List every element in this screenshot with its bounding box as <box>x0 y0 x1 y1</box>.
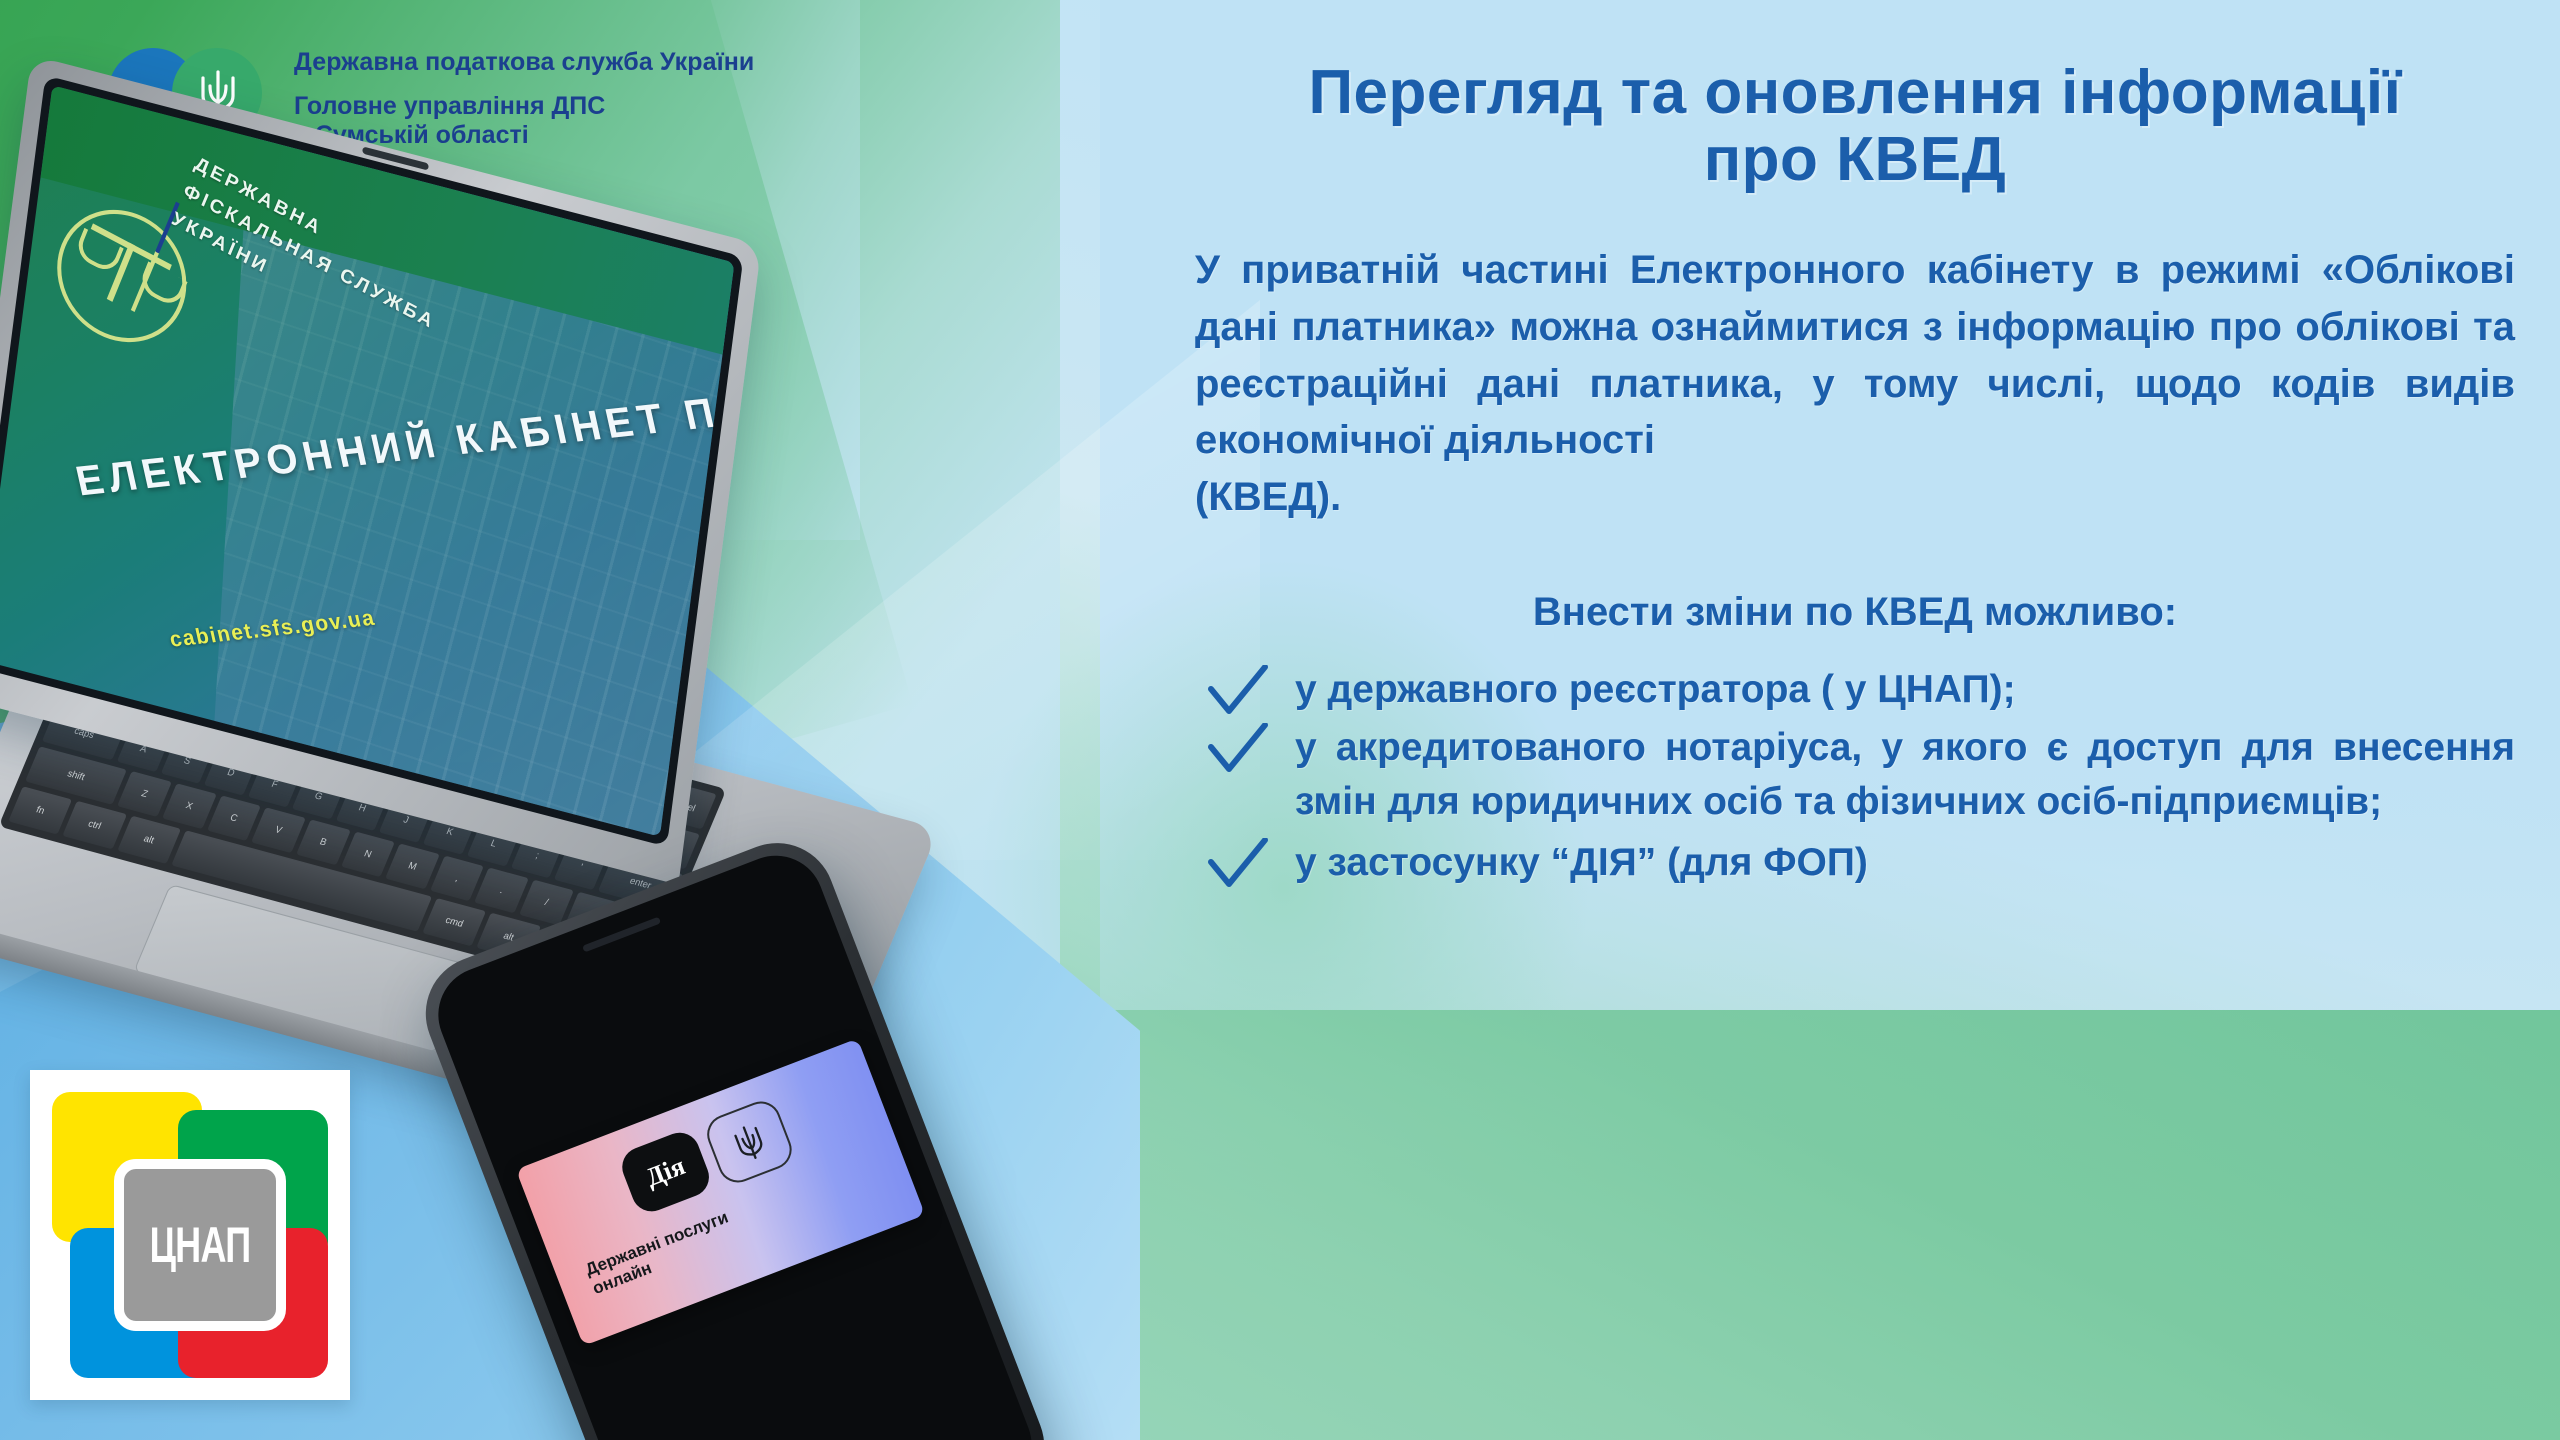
list-item-label: у застосунку “ДІЯ” (для ФОП) <box>1295 841 1868 884</box>
keyboard-key: ctrl <box>63 801 127 850</box>
trident-glyph-icon <box>726 1117 772 1167</box>
diia-app-badge: Дія <box>616 1126 714 1216</box>
keyboard-key: C <box>207 795 261 841</box>
list-item: у застосунку “ДІЯ” (для ФОП) <box>1195 836 2515 890</box>
diia-promo-card: Дія Державні послуги онлайн <box>516 1038 925 1346</box>
keyboard-key: alt <box>117 815 181 864</box>
keyboard-key: M <box>385 843 439 889</box>
checkmark-icon <box>1207 723 1269 775</box>
checkmark-icon <box>1207 838 1269 890</box>
list-item-label: у державного реєстратора ( у ЦНАП); <box>1295 668 2016 711</box>
intro-paragraph-last-line: (КВЕД). <box>1195 469 2515 526</box>
cnap-center-square: ЦНАП <box>114 1159 286 1331</box>
keyboard-key: fn <box>8 786 72 835</box>
intro-paragraph: У приватній частині Електронного кабінет… <box>1195 242 2515 526</box>
keyboard-key: / <box>519 879 573 925</box>
laptop-screen: ДЕРЖАВНА ФІСКАЛЬНАЯ СЛУЖБА УКРАЇНИ ЕЛЕКТ… <box>0 85 734 836</box>
page-title-line-1: Перегляд та оновлення інформації <box>1195 60 2515 127</box>
keyboard-key: B <box>296 819 350 865</box>
list-subheading: Внести зміни по КВЕД можливо: <box>1195 590 2515 635</box>
page-title: Перегляд та оновлення інформації про КВЕ… <box>1195 60 2515 194</box>
laptop-bezel: ДЕРЖАВНА ФІСКАЛЬНАЯ СЛУЖБА УКРАЇНИ ЕЛЕКТ… <box>0 75 744 846</box>
bullet-list: у державного реєстратора ( у ЦНАП); у ак… <box>1195 663 2515 890</box>
organization-name-block: Державна податкова служба України Головн… <box>294 42 754 151</box>
checkmark-icon <box>1207 665 1269 717</box>
content-column: Перегляд та оновлення інформації про КВЕ… <box>1195 60 2515 898</box>
org-line-2: Головне управління ДПС <box>294 92 754 122</box>
keyboard-key: V <box>251 807 305 853</box>
scale-left-icon <box>74 228 124 276</box>
keyboard-key: , <box>430 855 484 901</box>
intro-paragraph-text: У приватній частині Електронного кабінет… <box>1195 248 2515 462</box>
keyboard-key: N <box>341 831 395 877</box>
page-title-line-2: про КВЕД <box>1195 127 2515 194</box>
cnap-logo-inner: ЦНАП <box>52 1092 328 1378</box>
list-item: у державного реєстратора ( у ЦНАП); <box>1195 663 2515 717</box>
list-item-label: у акредитованого нотаріуса, у якого є до… <box>1295 726 2515 823</box>
cnap-wordmark: ЦНАП <box>150 1216 251 1274</box>
org-line-1: Державна податкова служба України <box>294 48 754 78</box>
keyboard-key: X <box>162 783 216 829</box>
cnap-logo: ЦНАП <box>30 1070 350 1400</box>
list-item: у акредитованого нотаріуса, у якого є до… <box>1195 721 2515 829</box>
phone-speaker-icon <box>582 917 660 953</box>
diia-trident-badge <box>701 1095 797 1188</box>
poster-canvas: Державна податкова служба України Головн… <box>0 0 2560 1440</box>
keyboard-key: cmd <box>422 898 486 947</box>
keyboard-key: . <box>475 867 529 913</box>
keyboard-key: Z <box>117 771 171 817</box>
